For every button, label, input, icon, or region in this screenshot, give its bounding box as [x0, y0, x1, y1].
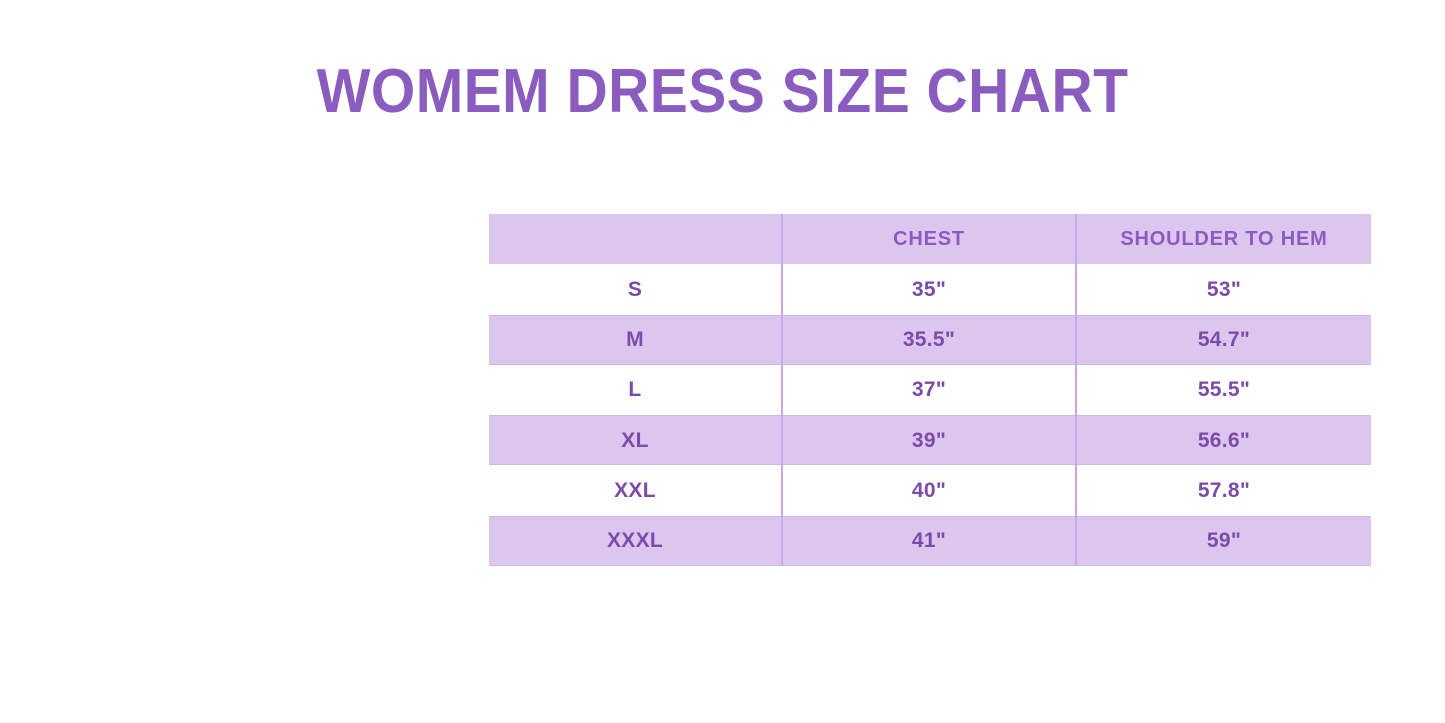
- cell-chest: 40": [782, 465, 1076, 515]
- cell-size: M: [489, 315, 782, 365]
- column-header-size: [489, 214, 782, 264]
- cell-size: L: [489, 365, 782, 415]
- table-row: L 37" 55.5": [489, 365, 1371, 415]
- cell-size: XXL: [489, 465, 782, 515]
- size-chart-table: CHEST SHOULDER TO HEM S 35" 53" M 35.5" …: [489, 214, 1371, 566]
- cell-shoulder: 55.5": [1076, 365, 1371, 415]
- cell-chest: 35": [782, 264, 1076, 314]
- table-header-row: CHEST SHOULDER TO HEM: [489, 214, 1371, 264]
- size-chart-table-container: CHEST SHOULDER TO HEM S 35" 53" M 35.5" …: [489, 214, 1371, 566]
- cell-shoulder: 56.6": [1076, 415, 1371, 465]
- cell-size: XXXL: [489, 516, 782, 566]
- table-header: CHEST SHOULDER TO HEM: [489, 214, 1371, 264]
- table-row: XXL 40" 57.8": [489, 465, 1371, 515]
- table-row: S 35" 53": [489, 264, 1371, 314]
- size-chart-page: WOMEM DRESS SIZE CHART CHEST SHOULDER TO…: [0, 0, 1445, 723]
- cell-shoulder: 57.8": [1076, 465, 1371, 515]
- cell-chest: 35.5": [782, 315, 1076, 365]
- cell-chest: 39": [782, 415, 1076, 465]
- cell-shoulder: 53": [1076, 264, 1371, 314]
- cell-size: XL: [489, 415, 782, 465]
- table-row: M 35.5" 54.7": [489, 315, 1371, 365]
- table-row: XL 39" 56.6": [489, 415, 1371, 465]
- column-header-chest: CHEST: [782, 214, 1076, 264]
- column-header-shoulder-to-hem: SHOULDER TO HEM: [1076, 214, 1371, 264]
- page-title: WOMEM DRESS SIZE CHART: [58, 56, 1387, 128]
- table-row: XXXL 41" 59": [489, 516, 1371, 566]
- cell-shoulder: 54.7": [1076, 315, 1371, 365]
- table-body: S 35" 53" M 35.5" 54.7" L 37" 55.5" XL 3…: [489, 264, 1371, 566]
- cell-shoulder: 59": [1076, 516, 1371, 566]
- cell-chest: 41": [782, 516, 1076, 566]
- cell-size: S: [489, 264, 782, 314]
- cell-chest: 37": [782, 365, 1076, 415]
